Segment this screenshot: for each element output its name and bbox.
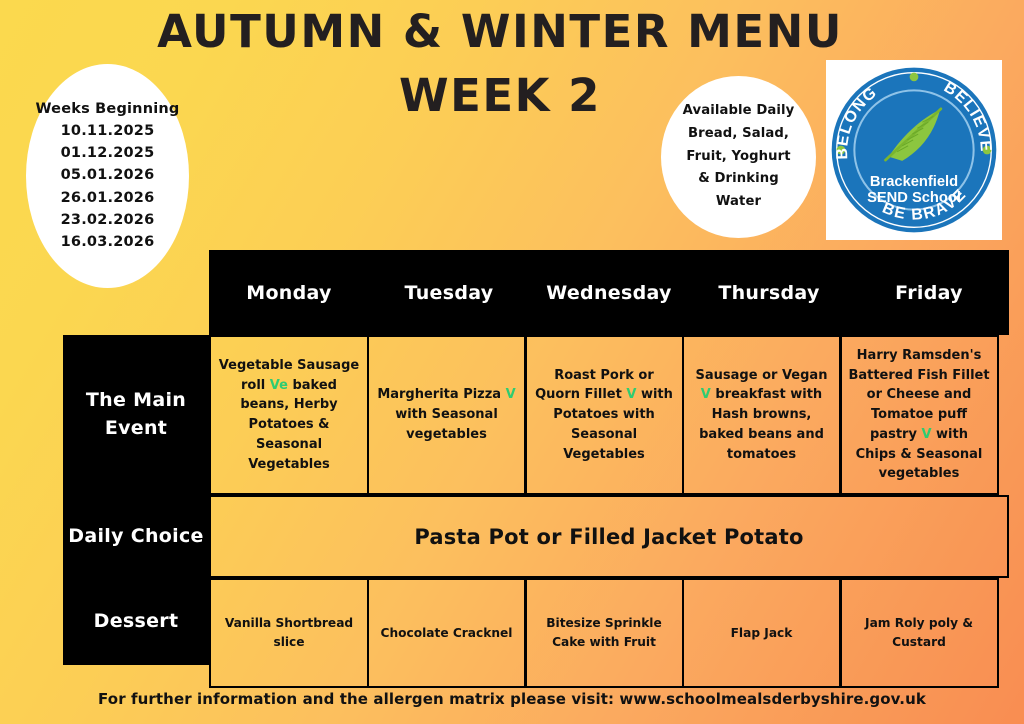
menu-table: Monday Tuesday Wednesday Thursday Friday… <box>63 250 1009 688</box>
main-event-monday: Vegetable Sausage roll Ve baked beans, H… <box>209 335 369 495</box>
column-header-tuesday: Tuesday <box>369 250 529 335</box>
available-daily-line: Available Daily <box>683 100 795 123</box>
logo-school-name-line1: Brackenfield <box>870 174 958 190</box>
table-row: Pasta Pot or Filled Jacket Potato <box>209 495 1009 578</box>
vegetarian-marker: V <box>921 427 931 442</box>
main-event-friday: Harry Ramsden's Battered Fish Fillet or … <box>839 335 999 495</box>
vegetarian-marker: V <box>506 387 516 402</box>
column-header-thursday: Thursday <box>689 250 849 335</box>
dessert-tuesday: Chocolate Cracknel <box>367 578 527 688</box>
table-header-row: Monday Tuesday Wednesday Thursday Friday <box>209 250 1009 335</box>
main-event-thursday: Sausage or Vegan V breakfast with Hash b… <box>682 335 842 495</box>
dessert-monday: Vanilla Shortbread slice <box>209 578 369 688</box>
available-daily-oval: Available Daily Bread, Salad, Fruit, Yog… <box>661 76 816 238</box>
week-date: 05.01.2026 <box>61 164 155 186</box>
vegetarian-marker: Ve <box>270 378 288 393</box>
week-date: 26.01.2026 <box>61 187 155 209</box>
vegetarian-marker: V <box>701 387 711 402</box>
column-header-monday: Monday <box>209 250 369 335</box>
available-daily-line: Fruit, Yoghurt <box>686 146 790 169</box>
daily-choice-value: Pasta Pot or Filled Jacket Potato <box>209 495 1009 578</box>
table-row: Vegetable Sausage roll Ve baked beans, H… <box>209 335 1009 495</box>
available-daily-line: & Drinking <box>698 168 779 191</box>
week-date: 01.12.2025 <box>61 142 155 164</box>
title-line-1: AUTUMN & WINTER MENU <box>150 8 850 55</box>
column-header-wednesday: Wednesday <box>529 250 689 335</box>
dessert-thursday: Flap Jack <box>682 578 842 688</box>
row-label-daily-choice: Daily Choice <box>63 495 209 578</box>
vegetarian-marker: V <box>626 387 636 402</box>
main-event-tuesday: Margherita Pizza V with Seasonal vegetab… <box>367 335 527 495</box>
row-label-dessert: Dessert <box>63 578 209 665</box>
available-daily-line: Water <box>716 191 761 214</box>
menu-poster: AUTUMN & WINTER MENU WEEK 2 Weeks Beginn… <box>0 0 1024 724</box>
week-date: 10.11.2025 <box>61 120 155 142</box>
logo-dot-top <box>910 73 919 82</box>
dessert-wednesday: Bitesize Sprinkle Cake with Fruit <box>524 578 684 688</box>
dessert-friday: Jam Roly poly & Custard <box>839 578 999 688</box>
main-event-wednesday: Roast Pork or Quorn Fillet V with Potato… <box>524 335 684 495</box>
row-label-the-main-event: The Main Event <box>63 335 209 495</box>
week-date: 23.02.2026 <box>61 209 155 231</box>
column-header-friday: Friday <box>849 250 1009 335</box>
table-row: Vanilla Shortbread slice Chocolate Crack… <box>209 578 1009 688</box>
available-daily-line: Bread, Salad, <box>688 123 789 146</box>
school-logo: Brackenfield SEND School BELONG BELIEVE … <box>826 60 1002 240</box>
footer-note: For further information and the allergen… <box>0 690 1024 708</box>
weeks-beginning-heading: Weeks Beginning <box>35 101 179 117</box>
school-logo-badge: Brackenfield SEND School BELONG BELIEVE … <box>830 66 998 234</box>
